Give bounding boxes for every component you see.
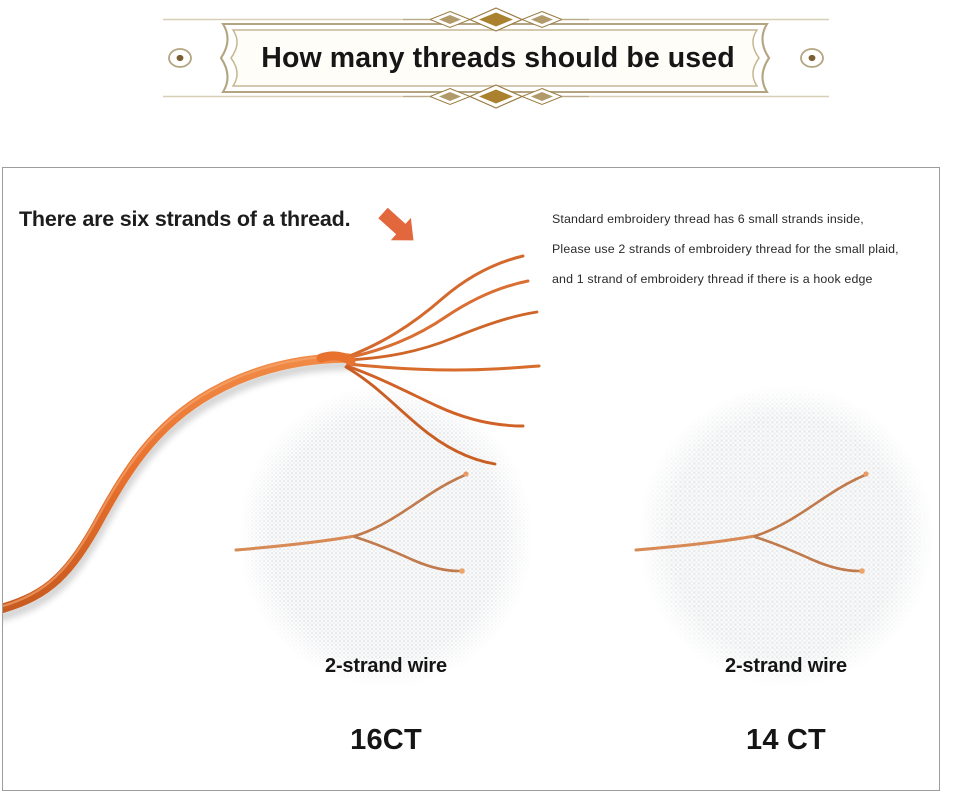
fabric-swatch-16ct: [228, 373, 548, 703]
fabric-swatch-14ct: [628, 373, 939, 703]
count-label-14ct: 14 CT: [660, 724, 912, 757]
note-line-1: Standard embroidery thread has 6 small s…: [552, 204, 940, 234]
strand-label-14ct: 2-strand wire: [660, 655, 912, 678]
title-banner: How many threads should be used: [163, 6, 829, 110]
down-right-arrow-icon: [373, 202, 424, 252]
note-line-2: Please use 2 strands of embroidery threa…: [552, 234, 940, 264]
instruction-photo-panel: There are six strands of a thread. Stand…: [2, 167, 940, 791]
headline-six-strands: There are six strands of a thread.: [19, 207, 350, 232]
count-label-16ct: 16CT: [260, 724, 512, 757]
strand-label-16ct: 2-strand wire: [260, 655, 512, 678]
page-title: How many threads should be used: [163, 6, 829, 110]
note-line-3: and 1 strand of embroidery thread if the…: [552, 264, 940, 294]
instruction-note-block: Standard embroidery thread has 6 small s…: [552, 204, 940, 294]
